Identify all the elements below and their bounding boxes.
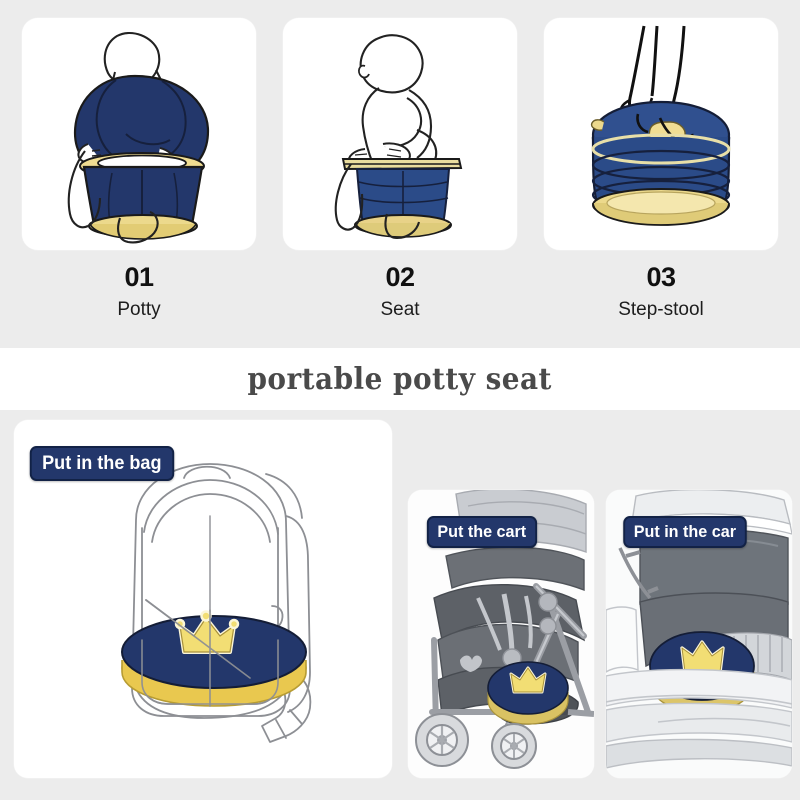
step-caption-02: 02 Seat (283, 262, 517, 323)
legs-standing-on-step-stool-illustration (544, 18, 778, 250)
step-number: 03 (544, 262, 778, 292)
child-sitting-on-seat-side-view-illustration (283, 18, 517, 250)
step-caption-01: 01 Potty (22, 262, 256, 323)
child-sitting-on-potty-front-view-illustration (22, 18, 256, 250)
step-label: Seat (283, 297, 517, 323)
infographic-root: 01 Potty (0, 0, 800, 800)
step-number: 02 (283, 262, 517, 292)
step-label: Potty (22, 297, 256, 323)
title-band: portable potty seat (0, 348, 800, 410)
badge-put-in-the-car: Put in the car (623, 516, 746, 548)
potty-seat-product-cart (488, 662, 568, 724)
step-caption-03: 03 Step-stool (544, 262, 778, 323)
badge-put-in-the-bag: Put in the bag (30, 446, 174, 481)
step-label: Step-stool (544, 297, 778, 323)
step-card-03[interactable] (544, 18, 778, 250)
steps-section: 01 Potty (0, 0, 800, 348)
step-number: 01 (22, 262, 256, 292)
page-title: portable potty seat (248, 362, 552, 397)
step-card-01[interactable] (22, 18, 256, 250)
badge-put-the-cart: Put the cart (427, 516, 537, 548)
step-card-02[interactable] (283, 18, 517, 250)
